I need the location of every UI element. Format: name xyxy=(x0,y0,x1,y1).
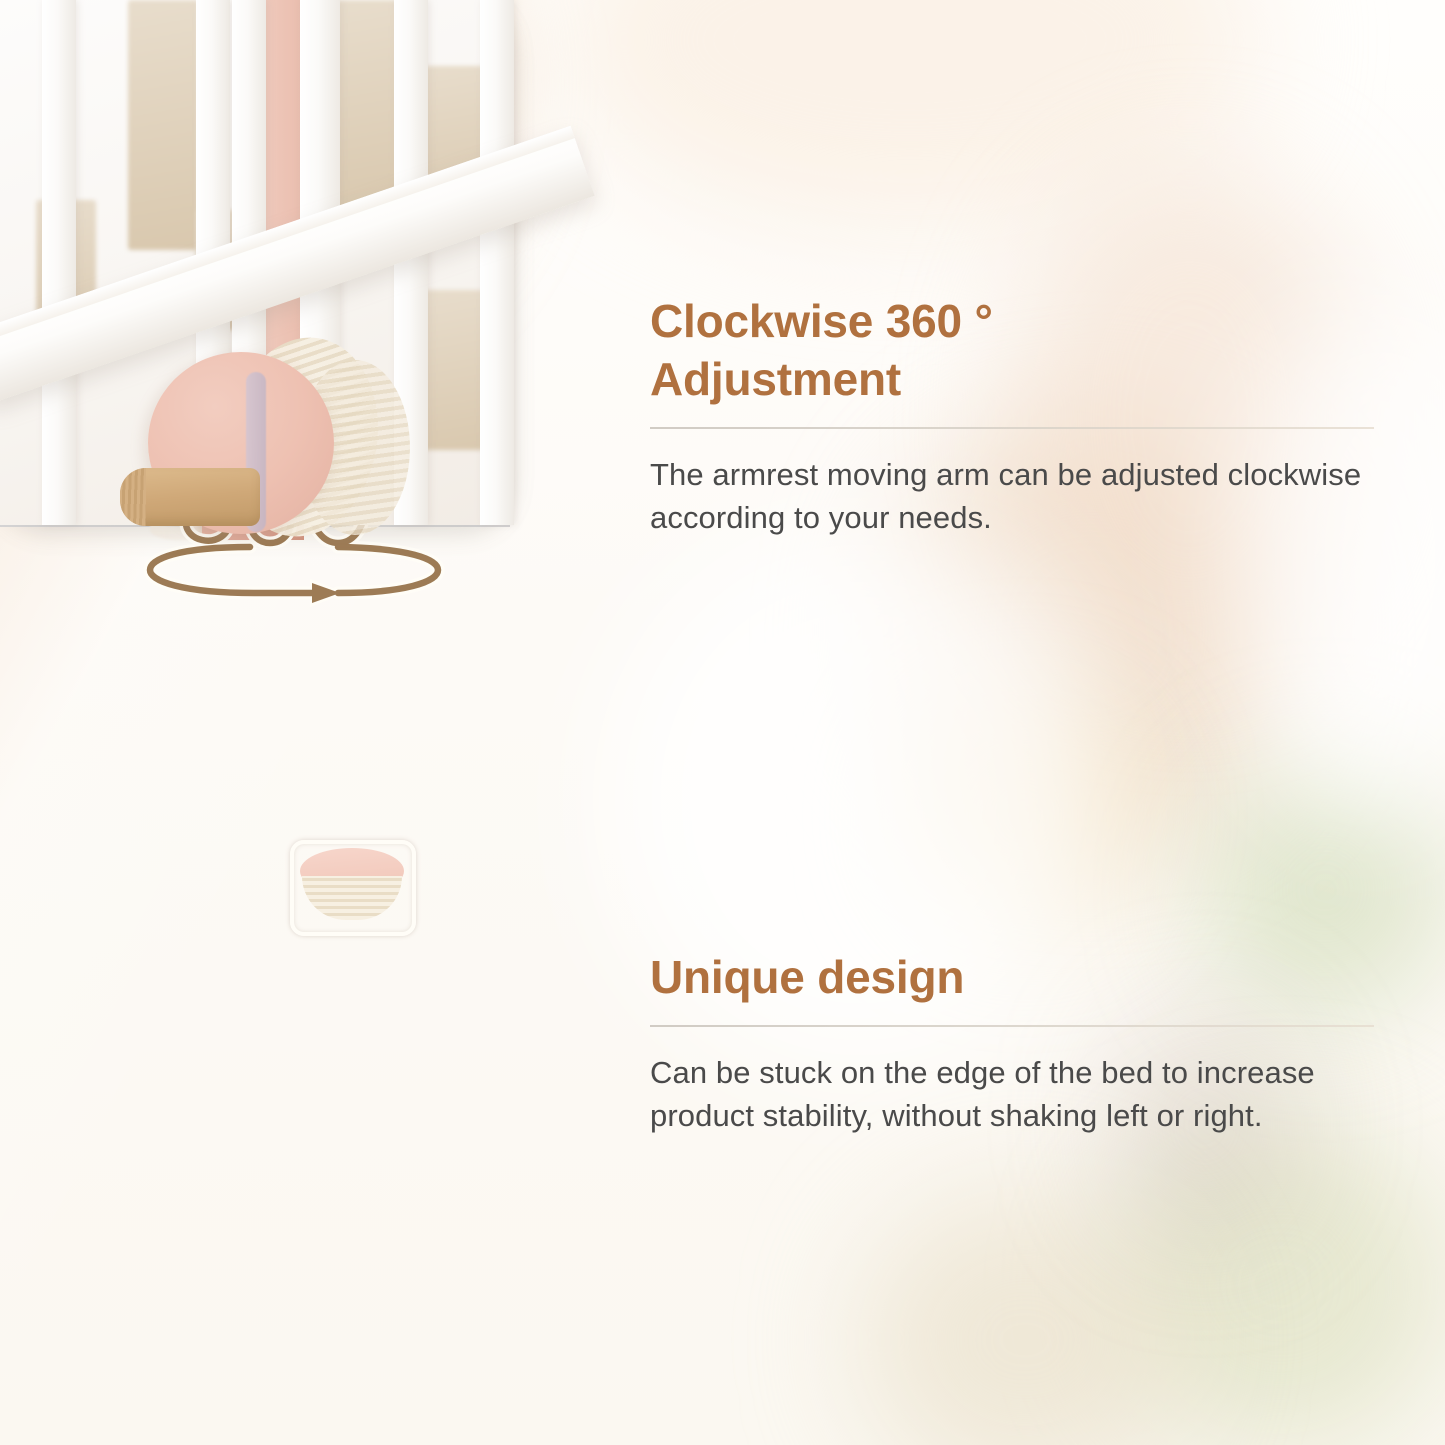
crib-gap-2 xyxy=(336,0,398,210)
feature-1-title: Clockwise 360 ° Adjustment xyxy=(650,293,1374,409)
feature-1-title-line-2: Adjustment xyxy=(650,353,901,405)
feature-1-body: The armrest moving arm can be adjusted c… xyxy=(650,453,1374,540)
crib-slat-1 xyxy=(42,0,76,525)
feature-1-title-line-1: Clockwise 360 ° xyxy=(650,295,993,347)
feature-2-body: Can be stuck on the edge of the bed to i… xyxy=(650,1051,1374,1138)
crib-gap-1 xyxy=(128,0,198,250)
feature-row-2: Unique design Can be stuck on the edge o… xyxy=(0,0,510,525)
feature-2-copy: Unique design Can be stuck on the edge o… xyxy=(650,949,1374,1138)
feature-1-copy: Clockwise 360 ° Adjustment The armrest m… xyxy=(650,293,1374,540)
crib-slat-6 xyxy=(480,0,510,525)
feature-2-title: Unique design xyxy=(650,949,1374,1007)
feature-1-divider xyxy=(650,427,1374,429)
clamp-wooden-peg xyxy=(120,468,260,525)
feature-2-image-panel xyxy=(0,0,510,525)
feature-2-divider xyxy=(650,1025,1374,1027)
